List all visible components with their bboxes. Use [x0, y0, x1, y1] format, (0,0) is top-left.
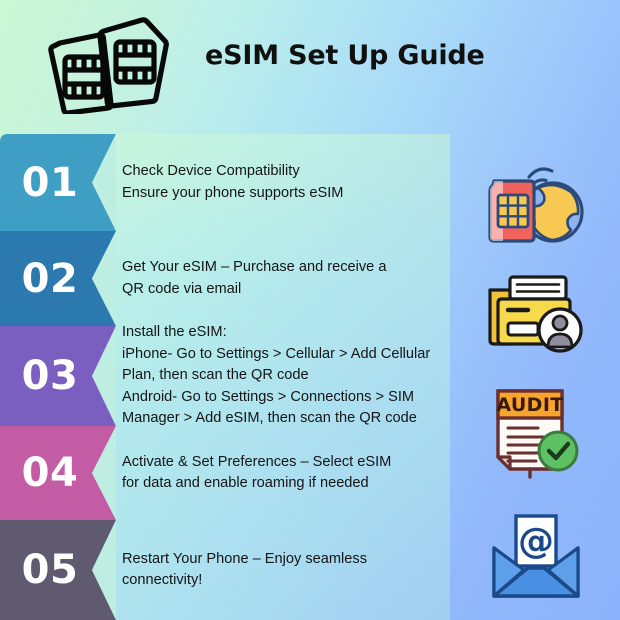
infographic-poster: eSIM Set Up Guide 01 Check Device Compat… — [0, 0, 620, 620]
sim-card-globe-icon — [482, 155, 588, 251]
step-line: Plan, then scan the QR code — [122, 365, 620, 386]
email-at-envelope-icon: @ — [486, 512, 586, 600]
at-sign-glyph: @ — [518, 521, 554, 562]
step-badge-4[interactable]: 04 — [0, 426, 116, 520]
step-badge-2[interactable]: 02 — [0, 231, 116, 326]
step-badge-5[interactable]: 05 — [0, 520, 116, 620]
page-title: eSIM Set Up Guide — [205, 40, 595, 71]
dual-sim-cards-icon — [38, 14, 184, 114]
audit-document-check-icon: AUDIT — [486, 385, 584, 479]
step-badge-1[interactable]: 01 — [0, 134, 116, 231]
step-badge-3[interactable]: 03 — [0, 326, 116, 426]
audit-banner-text: AUDIT — [496, 394, 563, 416]
documents-user-icon — [484, 268, 586, 354]
poster-header: eSIM Set Up Guide — [0, 0, 620, 128]
